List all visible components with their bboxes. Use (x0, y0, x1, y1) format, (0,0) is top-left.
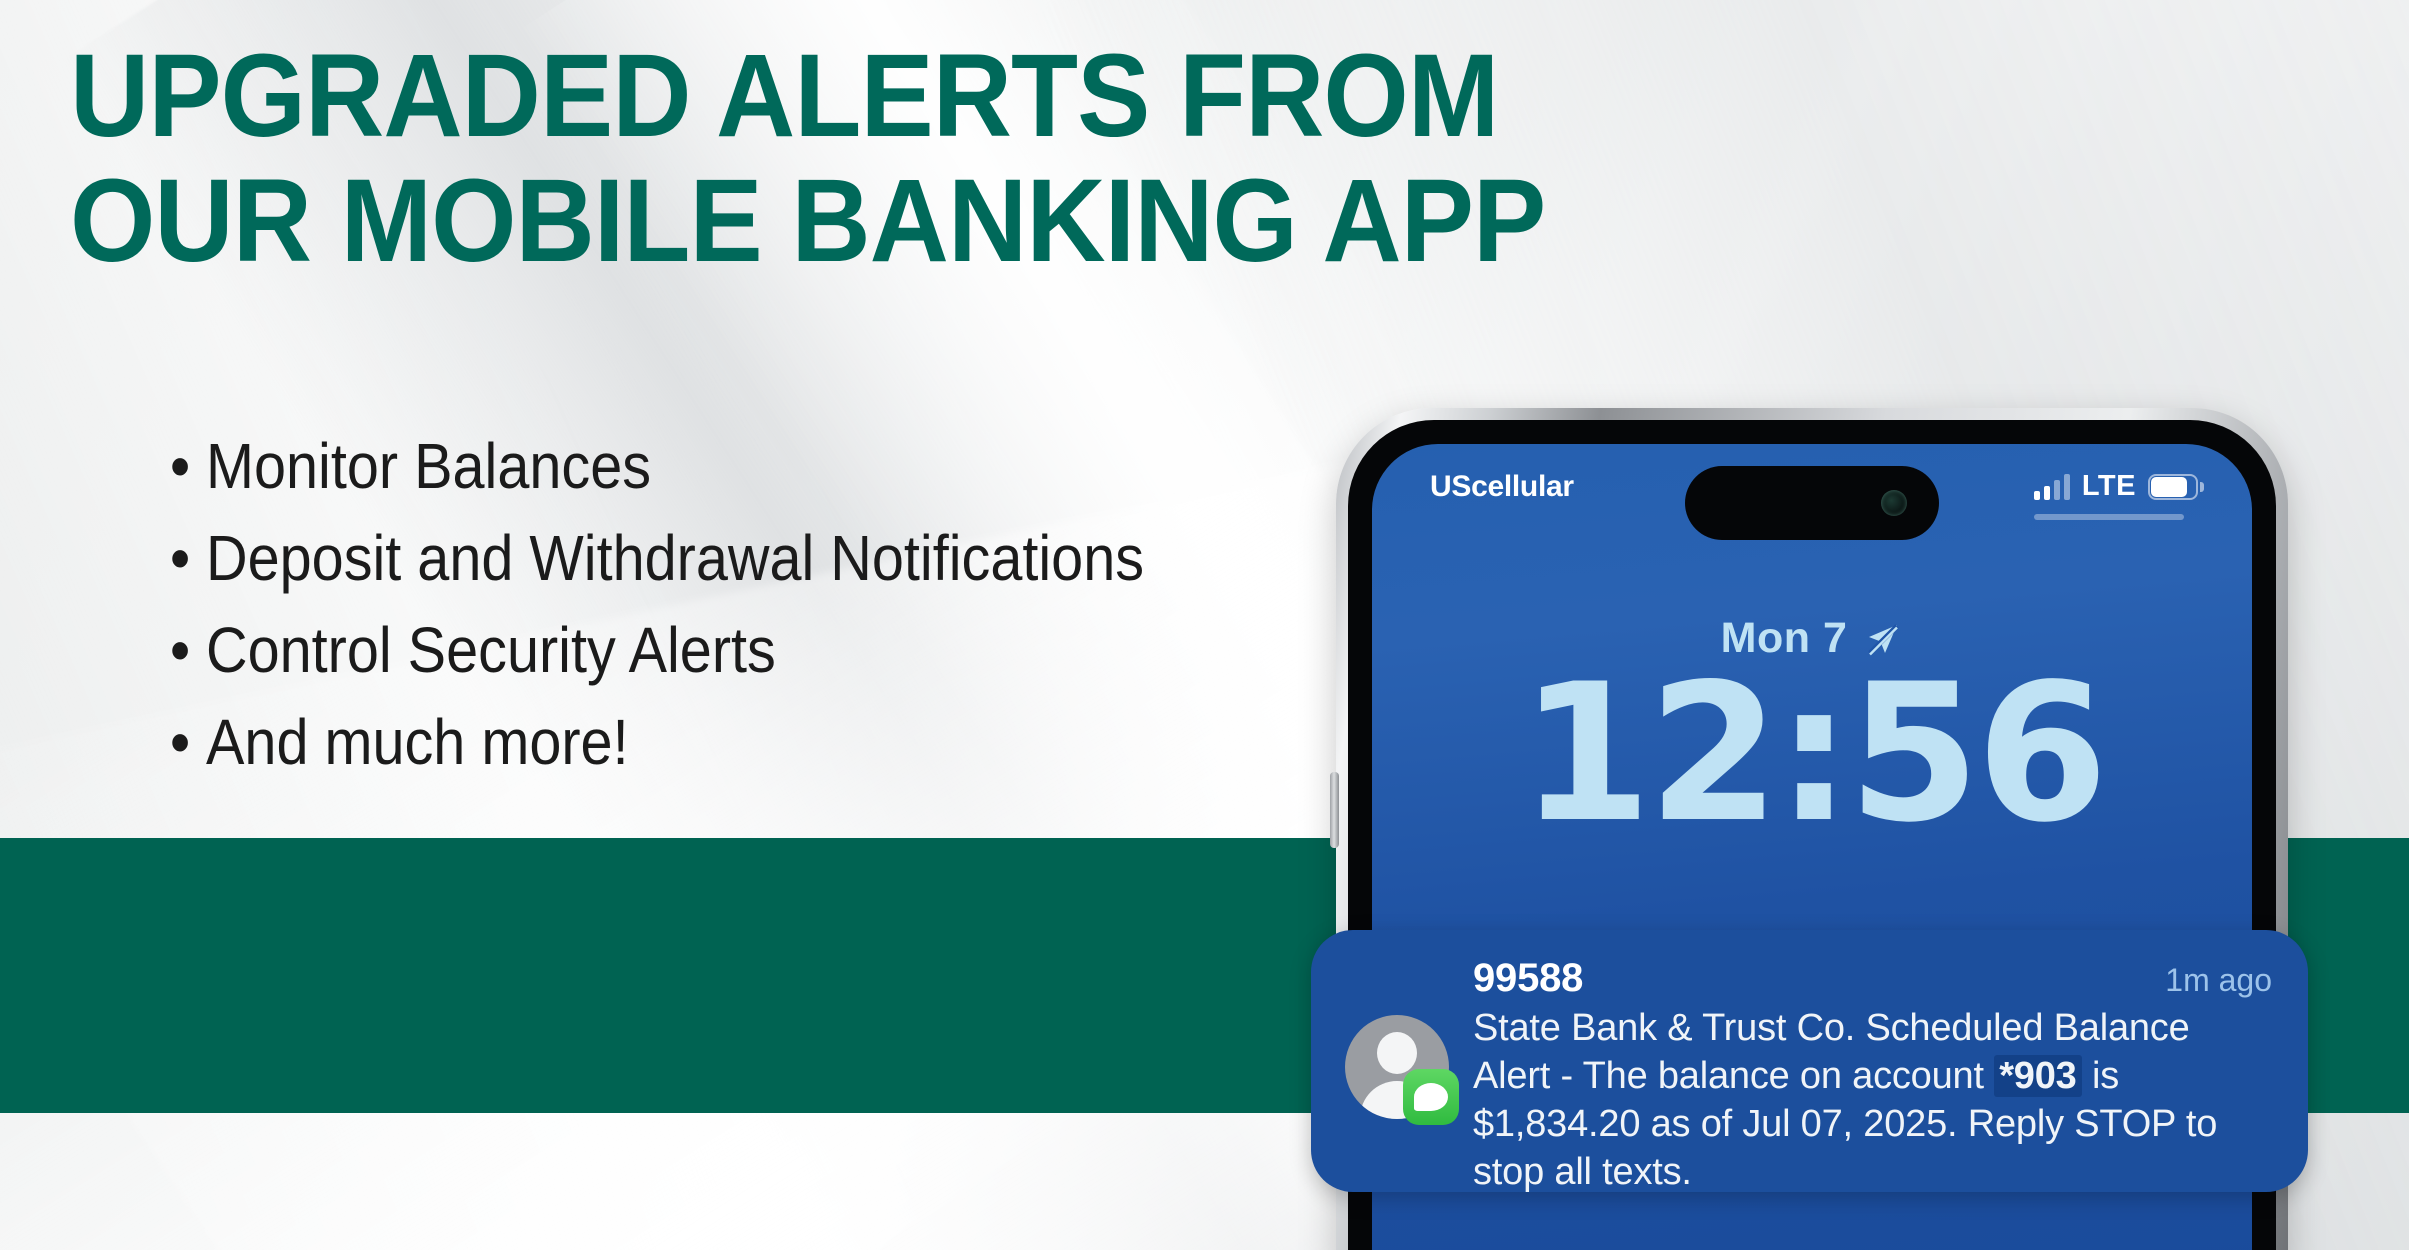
messages-app-icon (1403, 1069, 1459, 1125)
list-item-label: And much more! (206, 706, 629, 778)
notification-timestamp: 1m ago (2165, 962, 2272, 999)
headline-line-1: UPGRADED ALERTS FROM (70, 34, 1279, 159)
carrier-label: UScellular (1430, 470, 1574, 504)
promo-banner: UPGRADED ALERTS FROM OUR MOBILE BANKING … (0, 0, 2409, 1250)
list-item-label: Deposit and Withdrawal Notifications (206, 522, 1144, 594)
status-bar-underline (2034, 514, 2184, 520)
lock-screen-clock: 12:56 (1372, 659, 2252, 849)
notification-content: 99588 1m ago State Bank & Trust Co. Sche… (1449, 956, 2272, 1166)
dynamic-island (1685, 466, 1939, 540)
battery-icon (2148, 474, 2198, 500)
bullet-marker-icon: • (170, 420, 206, 512)
list-item: •Control Security Alerts (170, 604, 1232, 696)
list-item: •Deposit and Withdrawal Notifications (170, 512, 1232, 604)
list-item: •And much more! (170, 696, 1232, 788)
masked-account-number: *903 (1994, 1055, 2081, 1097)
list-item-label: Monitor Balances (206, 430, 651, 502)
front-camera-icon (1881, 490, 1907, 516)
bullet-marker-icon: • (170, 512, 206, 604)
bullet-marker-icon: • (170, 604, 206, 696)
phone-side-button[interactable] (1330, 772, 1339, 848)
list-item: •Monitor Balances (170, 420, 1232, 512)
notification-header: 99588 1m ago (1473, 956, 2272, 1001)
feature-list: •Monitor Balances •Deposit and Withdrawa… (170, 420, 1232, 789)
notification-sender: 99588 (1473, 956, 1583, 1001)
list-item-label: Control Security Alerts (206, 614, 776, 686)
notification-card[interactable]: 99588 1m ago State Bank & Trust Co. Sche… (1311, 930, 2308, 1192)
network-type-label: LTE (2082, 470, 2136, 503)
headline-line-2: OUR MOBILE BANKING APP (70, 159, 1279, 284)
signal-bars-icon (2034, 474, 2070, 500)
status-bar-right: LTE (2034, 470, 2198, 503)
notification-body: State Bank & Trust Co. Scheduled Balance… (1473, 1005, 2272, 1197)
person-avatar-icon (1345, 1015, 1449, 1119)
page-title: UPGRADED ALERTS FROM OUR MOBILE BANKING … (70, 34, 1279, 284)
bullet-marker-icon: • (170, 696, 206, 788)
